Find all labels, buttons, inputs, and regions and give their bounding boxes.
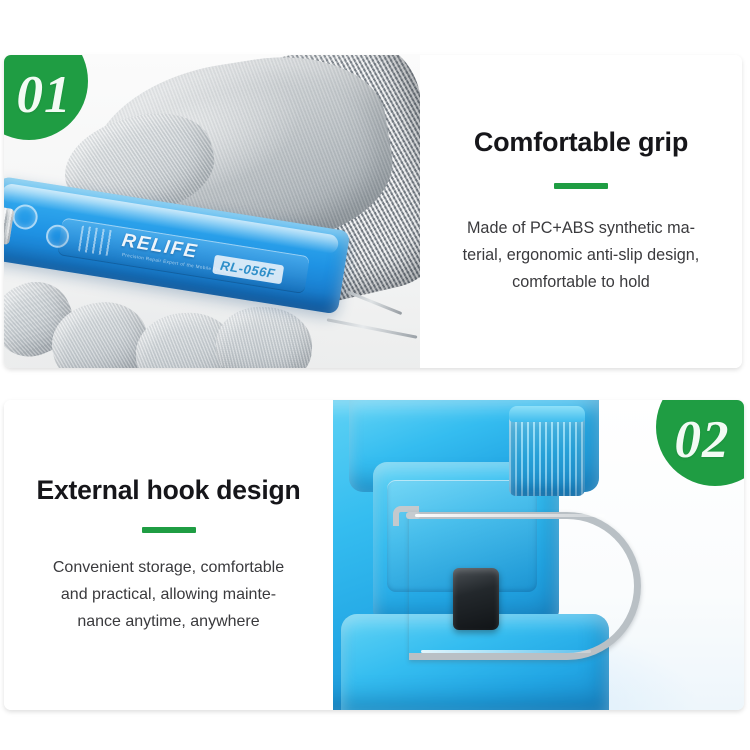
feature-body-02-line-3: nance anytime, anywhere bbox=[53, 609, 284, 636]
feature-body-02-line-1: Convenient storage, comfortable bbox=[53, 555, 284, 582]
external-hook-closeup-photo: 02 bbox=[333, 400, 744, 710]
knurled-knob bbox=[509, 412, 585, 496]
feature-card-02: External hook design Convenient storage,… bbox=[4, 400, 744, 710]
hand-holding-blue-tool-photo: RELIFE Precision Repair Expert of the Mo… bbox=[4, 55, 420, 368]
hook-highlight-top bbox=[415, 514, 605, 517]
knurled-knob-cap bbox=[509, 406, 585, 422]
feature-card-01: RELIFE Precision Repair Expert of the Mo… bbox=[4, 55, 742, 368]
tool-vent-lines bbox=[78, 225, 116, 256]
feature-text-panel-01: Comfortable grip Made of PC+ABS syntheti… bbox=[420, 55, 742, 368]
step-badge-02: 02 bbox=[656, 400, 744, 486]
green-divider-02 bbox=[142, 527, 196, 533]
product-feature-page: RELIFE Precision Repair Expert of the Mo… bbox=[0, 0, 750, 750]
tool-tip-needle-upper bbox=[346, 290, 403, 315]
feature-body-01-line-1: Made of PC+ABS synthetic ma- bbox=[463, 215, 700, 242]
feature-body-01-line-3: comfortable to hold bbox=[463, 269, 700, 296]
step-badge-01: 01 bbox=[4, 55, 88, 140]
feature-body-02: Convenient storage, comfortable and prac… bbox=[53, 555, 284, 635]
green-divider-01 bbox=[554, 183, 608, 189]
feature-body-01: Made of PC+ABS synthetic ma- terial, erg… bbox=[463, 215, 700, 296]
feature-heading-02: External hook design bbox=[36, 475, 300, 505]
feature-body-01-line-2: terial, ergonomic anti-slip design, bbox=[463, 242, 700, 269]
feature-heading-01: Comfortable grip bbox=[474, 127, 688, 158]
feature-text-panel-02: External hook design Convenient storage,… bbox=[4, 400, 333, 710]
external-metal-hook bbox=[409, 512, 641, 660]
glove-finger-4 bbox=[213, 304, 314, 368]
tool-tip-needle-lower bbox=[327, 318, 418, 338]
feature-body-02-line-2: and practical, allowing mainte- bbox=[53, 582, 284, 609]
hook-highlight-bottom bbox=[421, 650, 591, 653]
